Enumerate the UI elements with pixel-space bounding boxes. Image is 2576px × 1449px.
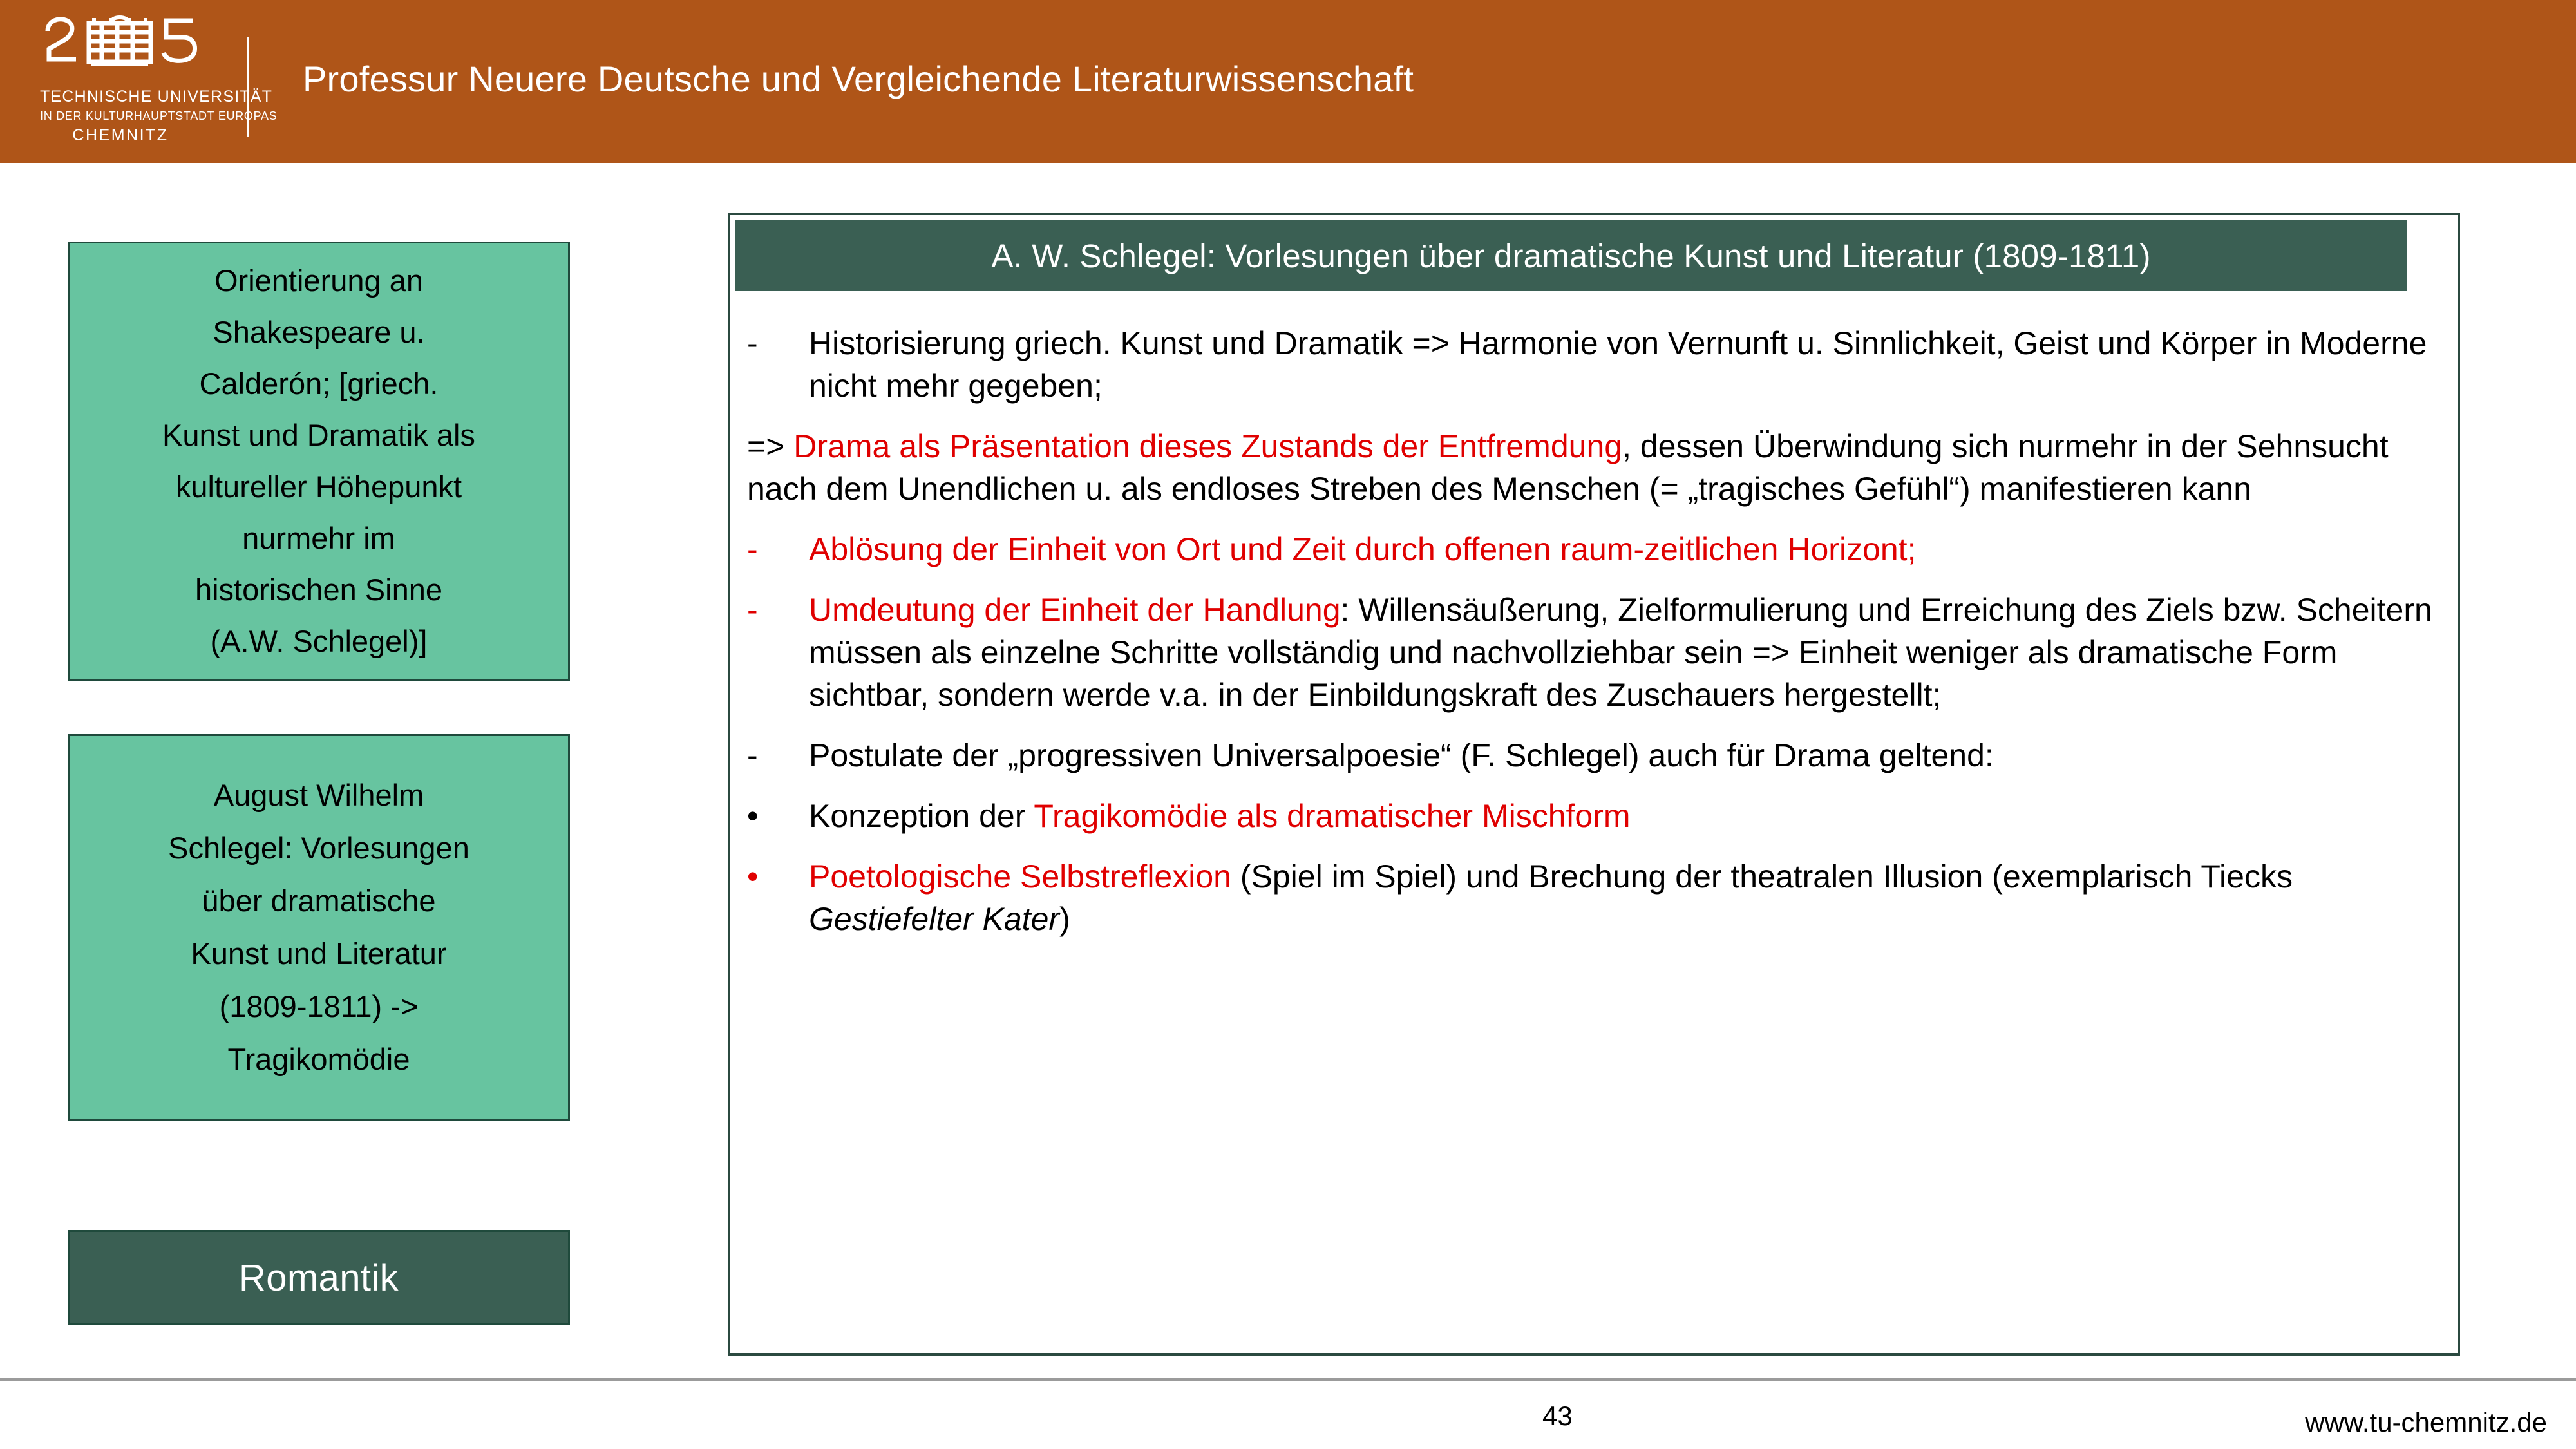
- content-body: -Historisierung griech. Kunst und Dramat…: [747, 322, 2447, 940]
- sidebar-note-schlegel: August Wilhelm Schlegel: Vorlesungen übe…: [68, 734, 570, 1121]
- footer-url: www.tu-chemnitz.de: [2305, 1407, 2547, 1438]
- logo-line-capital: IN DER KULTURHAUPTSTADT EUROPAS: [40, 109, 201, 123]
- content-paragraph: => Drama als Präsentation dieses Zustand…: [747, 425, 2447, 510]
- text-run: =>: [747, 428, 793, 464]
- text-run: ): [1059, 901, 1070, 937]
- bullet-marker-icon: -: [747, 322, 799, 365]
- header-bar: TECHNISCHE UNIVERSITÄT IN DER KULTURHAUP…: [0, 0, 2576, 163]
- text-run: Ablösung der Einheit von Ort und Zeit du…: [809, 531, 1916, 567]
- text-run: Drama als Präsentation dieses Zustands d…: [793, 428, 1622, 464]
- text-run: (Spiel im Spiel) und Brechung der theatr…: [1231, 858, 2293, 895]
- bullet-marker-icon: -: [747, 734, 799, 777]
- header-divider: [247, 37, 249, 137]
- content-paragraph: -Historisierung griech. Kunst und Dramat…: [747, 322, 2447, 407]
- content-title-text: A. W. Schlegel: Vorlesungen über dramati…: [991, 237, 2150, 275]
- logo-line-city: CHEMNITZ: [40, 126, 201, 145]
- text-run: Postulate der „progressiven Universalpoe…: [809, 737, 1994, 773]
- header-title: Professur Neuere Deutsche und Vergleiche…: [303, 58, 1414, 100]
- content-paragraph: -Ablösung der Einheit von Ort und Zeit d…: [747, 528, 2447, 571]
- logo-line-university: TECHNISCHE UNIVERSITÄT: [40, 88, 201, 106]
- sidebar-section-label-text: Romantik: [239, 1256, 399, 1300]
- bullet-marker-icon: -: [747, 589, 799, 631]
- bullet-marker-icon: •: [747, 795, 799, 837]
- content-paragraph: •Poetologische Selbstreflexion (Spiel im…: [747, 855, 2447, 940]
- sidebar-note-schlegel-text: August Wilhelm Schlegel: Vorlesungen übe…: [162, 769, 476, 1086]
- footer-divider: [0, 1378, 2576, 1381]
- bullet-marker-icon: •: [747, 855, 799, 898]
- text-run: Umdeutung der Einheit der Handlung: [809, 592, 1341, 628]
- content-paragraph: •Konzeption der Tragikomödie als dramati…: [747, 795, 2447, 837]
- text-run: Tragikomödie als dramatischer Mischform: [1034, 798, 1630, 834]
- text-run: Poetologische Selbstreflexion: [809, 858, 1231, 895]
- bullet-marker-icon: -: [747, 528, 799, 571]
- content-title-bar: A. W. Schlegel: Vorlesungen über dramati…: [735, 220, 2407, 291]
- tu-chemnitz-logo: TECHNISCHE UNIVERSITÄT IN DER KULTURHAUP…: [40, 6, 201, 151]
- text-run: Konzeption der: [809, 798, 1034, 834]
- sidebar-note-orientierung: Orientierung an Shakespeare u. Calderón;…: [68, 241, 570, 681]
- text-run: Gestiefelter Kater: [809, 901, 1059, 937]
- content-paragraph: -Postulate der „progressiven Universalpo…: [747, 734, 2447, 777]
- page-number: 43: [1542, 1401, 1573, 1432]
- content-paragraph: -Umdeutung der Einheit der Handlung: Wil…: [747, 589, 2447, 716]
- sidebar-section-label: Romantik: [68, 1230, 570, 1325]
- text-run: Historisierung griech. Kunst und Dramati…: [809, 325, 2427, 404]
- sidebar-note-orientierung-text: Orientierung an Shakespeare u. Calderón;…: [156, 255, 482, 667]
- logo-2025-mark: [40, 6, 201, 84]
